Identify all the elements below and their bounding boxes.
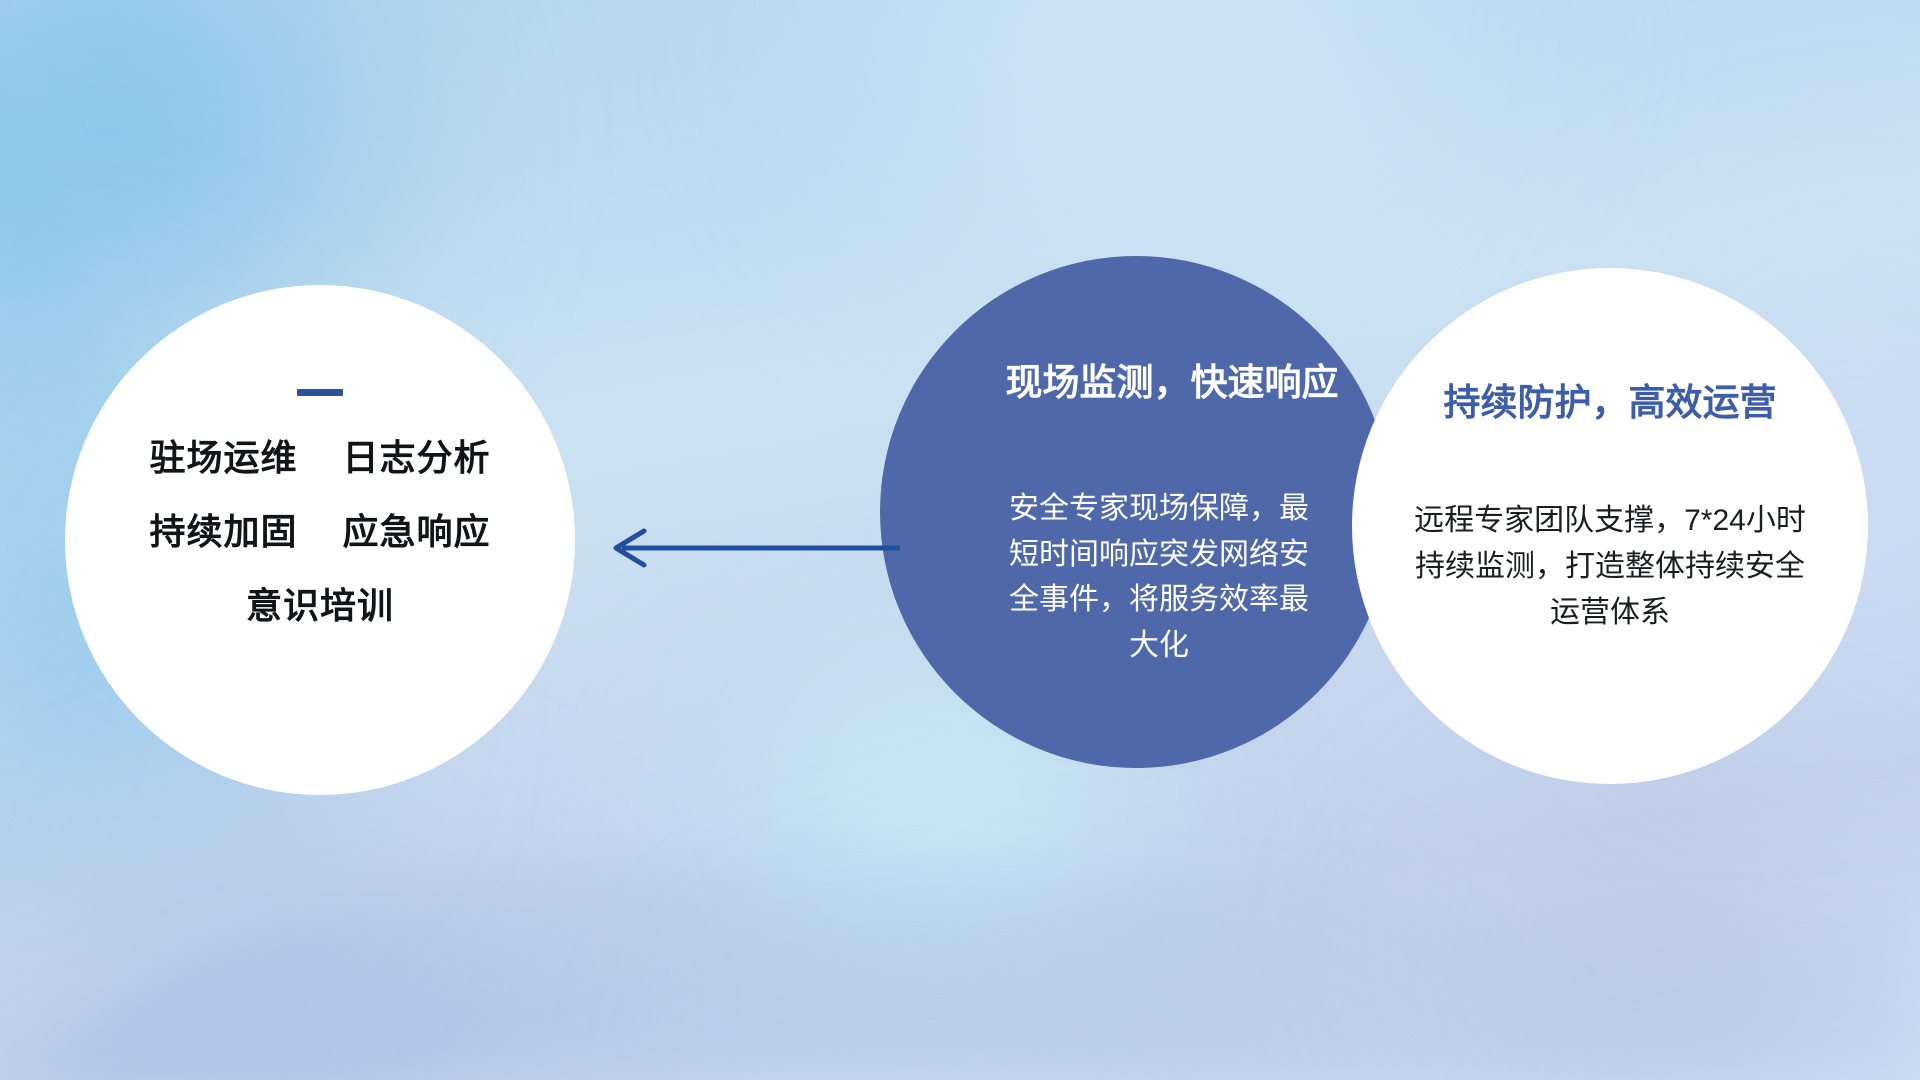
onsite-monitoring-title: 现场监测，快速响应 — [956, 352, 1388, 406]
continuous-protection-circle[interactable]: 持续防护，高效运营 远程专家团队支撑，7*24小时持续监测，打造整体持续安全运营… — [1352, 268, 1868, 784]
slide-canvas: 驻场运维 日志分析 持续加固 应急响应 意识培训 现场监测，快速响应 安全专家现… — [0, 0, 1920, 1080]
continuous-protection-title: 持续防护，高效运营 — [1370, 372, 1850, 426]
capability-circle-left[interactable]: 驻场运维 日志分析 持续加固 应急响应 意识培训 — [65, 285, 575, 795]
capability-keyword-row-2: 持续加固 应急响应 — [65, 514, 575, 550]
capability-keyword: 驻场运维 — [149, 440, 297, 476]
capability-keyword-row-3: 意识培训 — [65, 588, 575, 624]
capability-keyword: 应急响应 — [343, 514, 491, 550]
capability-keyword-row-1: 驻场运维 日志分析 — [65, 440, 575, 476]
onsite-monitoring-circle[interactable]: 现场监测，快速响应 安全专家现场保障，最短时间响应突发网络安全事件，将服务效率最… — [880, 256, 1392, 768]
continuous-protection-body: 远程专家团队支撑，7*24小时持续监测，打造整体持续安全运营体系 — [1410, 498, 1810, 637]
onsite-monitoring-content: 现场监测，快速响应 安全专家现场保障，最短时间响应突发网络安全事件，将服务效率最… — [930, 352, 1388, 668]
divider-dash-icon — [297, 389, 343, 396]
flow-arrow-left-icon — [600, 520, 900, 576]
capability-circle-left-content: 驻场运维 日志分析 持续加固 应急响应 意识培训 — [65, 389, 575, 624]
continuous-protection-content: 持续防护，高效运营 远程专家团队支撑，7*24小时持续监测，打造整体持续安全运营… — [1370, 372, 1850, 637]
onsite-monitoring-body: 安全专家现场保障，最短时间响应突发网络安全事件，将服务效率最大化 — [999, 486, 1319, 668]
capability-keyword-list: 驻场运维 日志分析 持续加固 应急响应 意识培训 — [65, 440, 575, 624]
capability-keyword: 持续加固 — [149, 514, 297, 550]
capability-keyword: 日志分析 — [343, 440, 491, 476]
capability-keyword: 意识培训 — [246, 588, 394, 624]
